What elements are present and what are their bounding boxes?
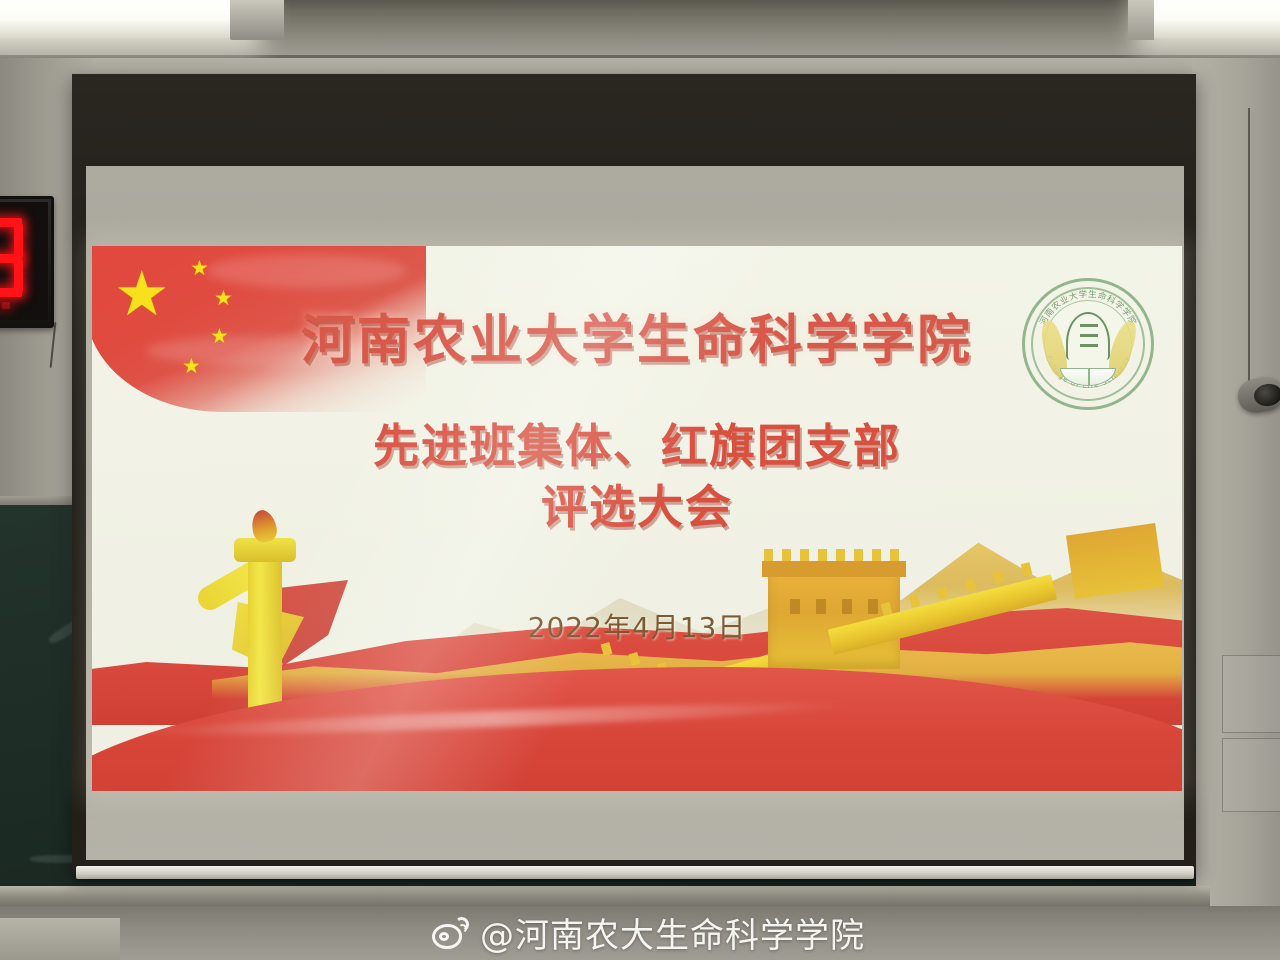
slide-title: 河南农业大学生命科学学院 — [92, 298, 1182, 374]
weibo-icon — [432, 916, 472, 950]
wall-panel-lower — [1222, 738, 1280, 812]
weibo-handle: @河南农大生命科学学院 — [480, 908, 865, 957]
projected-slide: ★ ★ ★ ★ ★ 河南农业大学生命科学学院 College of Life S… — [92, 246, 1182, 791]
wall-panel-upper — [1222, 655, 1280, 733]
slide-date: 2022年4月13日 — [92, 606, 1182, 646]
slide-subtitle-line-2: 评选大会 — [92, 477, 1182, 538]
slide-subtitle: 先进班集体、红旗团支部 评选大会 — [92, 416, 1182, 537]
classroom-scene: ★ ★ ★ ★ ★ 河南农业大学生命科学学院 College of Life S… — [0, 0, 1280, 960]
light-fixture-cap-left — [230, 0, 284, 40]
light-fixture-cap-right — [1128, 0, 1154, 40]
slide-subtitle-line-1: 先进班集体、红旗团支部 — [92, 416, 1182, 477]
screen-weight-bar — [76, 866, 1194, 879]
camera-cable — [1248, 108, 1250, 382]
ceiling-light-right-icon — [1148, 0, 1280, 38]
flag-star-1: ★ — [190, 258, 209, 279]
ceiling-light-left-icon — [0, 0, 250, 38]
watchtower-roof — [762, 561, 906, 577]
podium-edge — [0, 918, 120, 960]
college-emblem: 河南农业大学生命科学学院 College of Life Sciences — [1022, 278, 1154, 410]
weibo-watermark: @河南农大生命科学学院 — [432, 908, 865, 957]
right-wall — [1192, 58, 1280, 960]
led-clock-display — [0, 202, 48, 320]
chalk-ledge — [0, 886, 1210, 908]
